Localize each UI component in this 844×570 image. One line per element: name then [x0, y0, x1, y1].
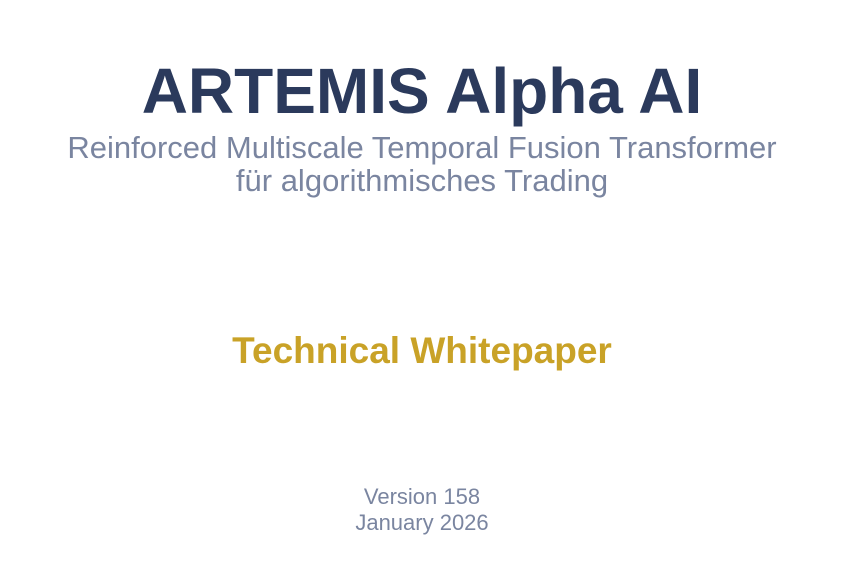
subtitle-line-2: für algorithmisches Trading [0, 164, 844, 197]
subtitle-line-1: Reinforced Multiscale Temporal Fusion Tr… [0, 131, 844, 164]
document-type-label: Technical Whitepaper [0, 332, 844, 369]
publication-date: January 2026 [0, 510, 844, 536]
document-subtitle: Reinforced Multiscale Temporal Fusion Tr… [0, 131, 844, 197]
whitepaper-cover-page: ARTEMIS Alpha AI Reinforced Multiscale T… [0, 0, 844, 570]
page-title: ARTEMIS Alpha AI [0, 59, 844, 123]
version-block: Version 158 January 2026 [0, 484, 844, 536]
version-number: Version 158 [0, 484, 844, 510]
